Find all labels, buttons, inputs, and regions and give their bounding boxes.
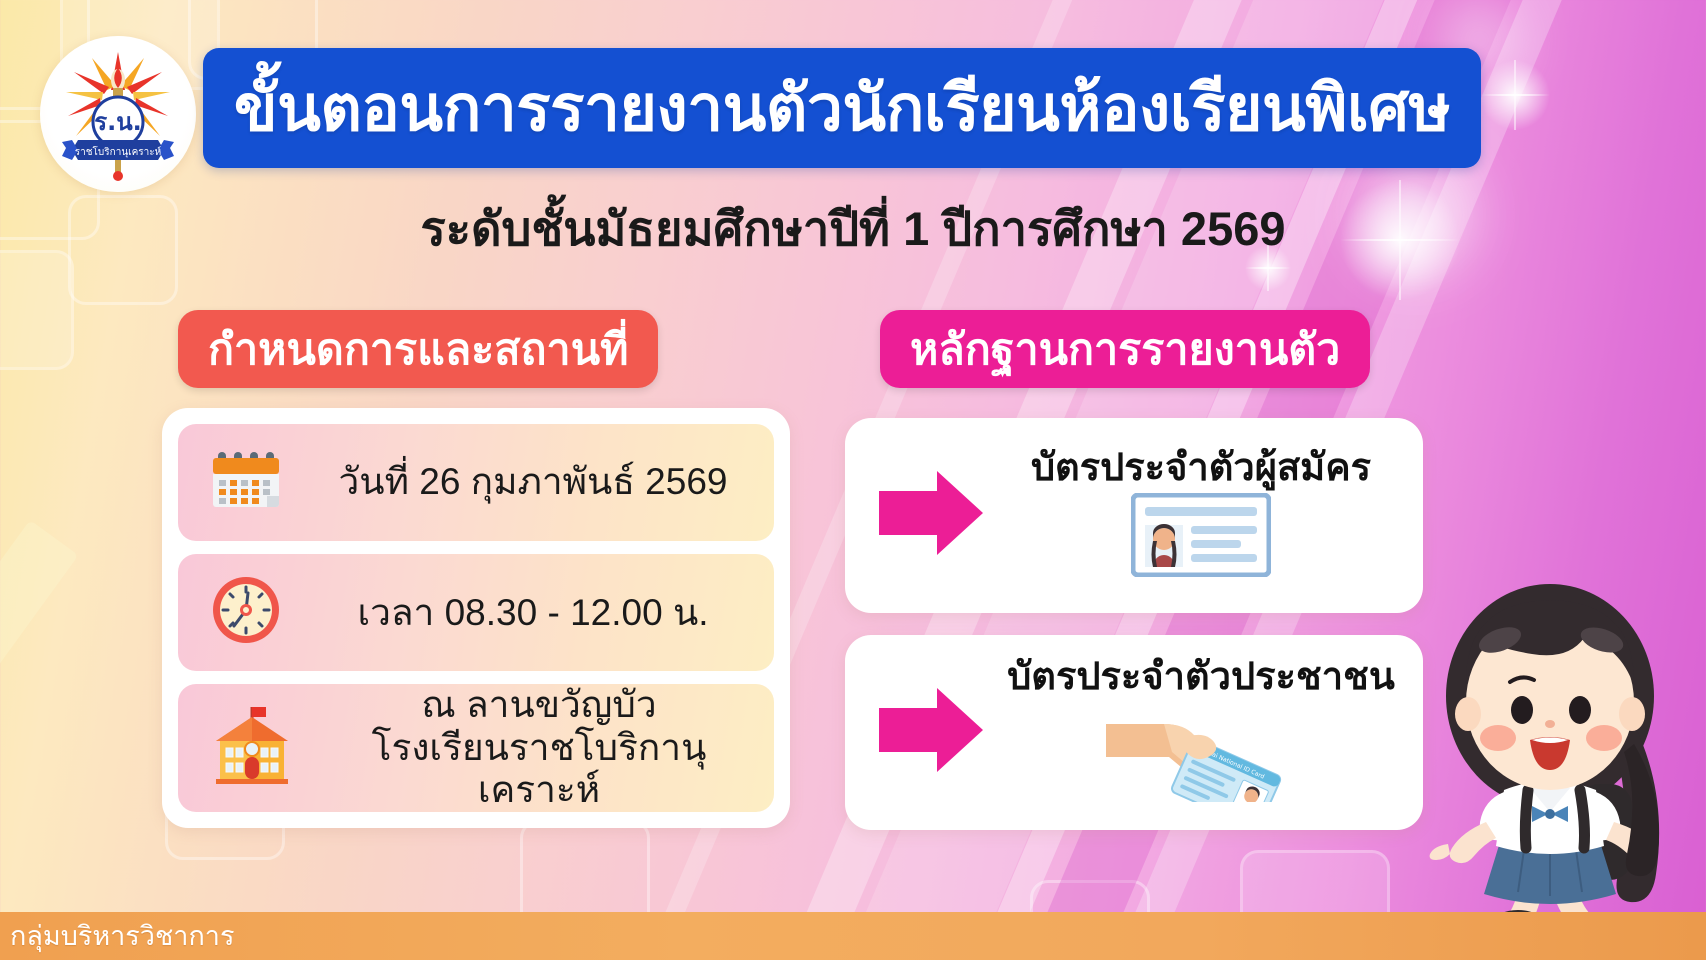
schedule-time-line1: เวลา 08.30 - 12.00 น. <box>357 592 708 633</box>
arrow-right-icon <box>871 453 991 578</box>
schedule-place-line1: ณ ลานขวัญบัว <box>421 684 656 725</box>
deco-sparkle <box>1480 60 1550 130</box>
deco-square <box>0 250 74 370</box>
section-badge-schedule-label: กำหนดการและสถานที่ <box>208 315 628 383</box>
svg-text:ร.น.: ร.น. <box>94 108 142 136</box>
footer-text: กลุ่มบริหารวิชาการ <box>0 923 234 950</box>
section-badge-schedule: กำหนดการและสถานที่ <box>178 310 658 388</box>
section-badge-documents-label: หลักฐานการรายงานตัว <box>910 315 1340 383</box>
documents-panel: บัตรประจำตัวผู้สมัคร <box>845 418 1423 830</box>
school-emblem: ร.น. ราชโบริกานุเคราะห์ <box>40 36 196 192</box>
student-girl-illustration <box>1382 574 1706 934</box>
footer-bar: กลุ่มบริหารวิชาการ <box>0 912 1706 960</box>
applicant-id-card-icon <box>1131 493 1271 582</box>
schedule-place-line2: โรงเรียนราชโบริกานุเคราะห์ <box>322 727 756 812</box>
schedule-card-place-text: ณ ลานขวัญบัว โรงเรียนราชโบริกานุเคราะห์ <box>322 684 774 812</box>
page-subtitle: ระดับชั้นมัธยมศึกษาปีที่ 1 ปีการศึกษา 25… <box>0 205 1706 252</box>
hand-holding-national-id-card-icon: Thai National ID Card <box>1106 702 1296 807</box>
schedule-card-date: วันที่ 26 กุมภาพันธ์ 2569 <box>178 424 774 541</box>
svg-text:ราชโบริกานุเคราะห์: ราชโบริกานุเคราะห์ <box>75 145 161 158</box>
schedule-card-date-text: วันที่ 26 กุมภาพันธ์ 2569 <box>310 461 774 504</box>
document-card-national-id-title: บัตรประจำตัวประชาชน <box>1007 658 1395 696</box>
clock-icon <box>204 568 288 657</box>
school-building-icon <box>204 701 300 796</box>
section-badge-documents: หลักฐานการรายงานตัว <box>880 310 1370 388</box>
document-card-national-id: บัตรประจำตัวประชาชน Thai National ID Car… <box>845 635 1423 830</box>
arrow-right-icon <box>871 670 991 795</box>
title-banner: ขั้นตอนการรายงานตัวนักเรียนห้องเรียนพิเศ… <box>203 48 1481 168</box>
document-card-applicant-id-title: บัตรประจำตัวผู้สมัคร <box>1031 449 1371 487</box>
document-card-applicant-id: บัตรประจำตัวผู้สมัคร <box>845 418 1423 613</box>
schedule-card-time: เวลา 08.30 - 12.00 น. <box>178 554 774 671</box>
schedule-card-time-text: เวลา 08.30 - 12.00 น. <box>310 592 774 635</box>
schedule-date-line1: วันที่ 26 กุมภาพันธ์ 2569 <box>339 461 728 502</box>
schedule-card-place: ณ ลานขวัญบัว โรงเรียนราชโบริกานุเคราะห์ <box>178 684 774 812</box>
deco-streak <box>0 520 79 960</box>
calendar-icon <box>204 438 288 527</box>
schedule-panel: วันที่ 26 กุมภาพันธ์ 2569 <box>162 408 790 828</box>
page-title: ขั้นตอนการรายงานตัวนักเรียนห้องเรียนพิเศ… <box>234 76 1450 140</box>
